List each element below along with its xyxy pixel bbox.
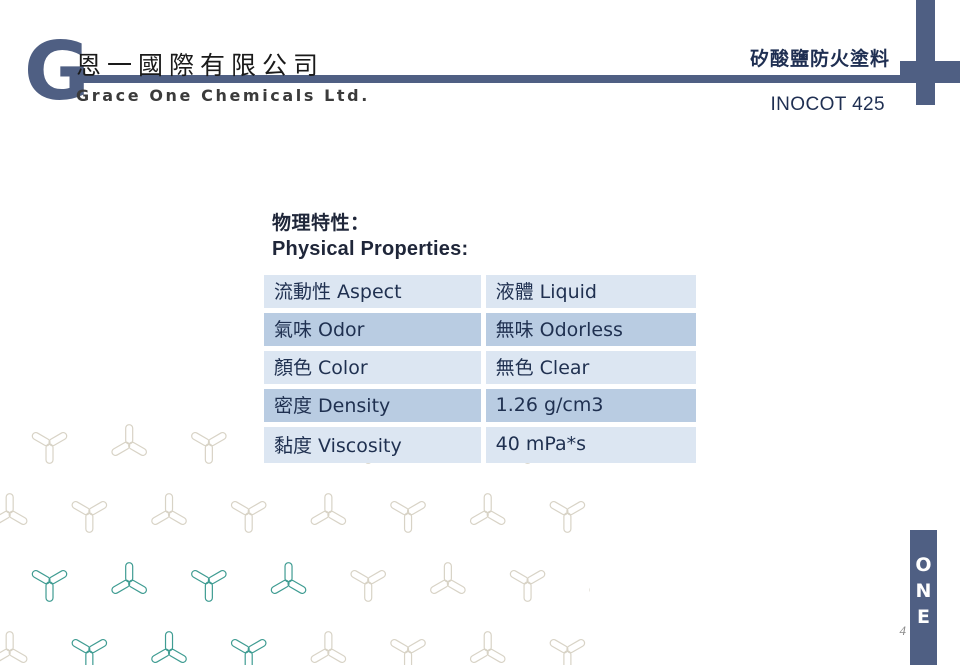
company-name-chinese: 恩一國際有限公司 (76, 46, 324, 82)
table-row: 密度 Density1.26 g/cm3 (264, 389, 696, 427)
corner-cross-horizontal-bar (900, 61, 960, 77)
section-heading-english: Physical Properties: (272, 236, 468, 262)
product-code: INOCOT 425 (770, 94, 885, 116)
one-letter: O (910, 552, 937, 578)
property-name-cell: 流動性 Aspect (264, 275, 486, 313)
section-heading-chinese: 物理特性： (272, 211, 468, 236)
table-row: 氣味 Odor無味 Odorless (264, 313, 696, 351)
slide-canvas: G 恩一國際有限公司 Grace One Chemicals Ltd. 矽酸鹽防… (0, 0, 960, 665)
one-brand-letters: ONE (910, 530, 937, 630)
one-letter: N (910, 578, 937, 604)
property-value-cell: 無色 Clear (486, 351, 696, 389)
property-value-cell: 40 mPa*s (486, 427, 696, 463)
page-number: 4 (890, 623, 906, 639)
property-name-cell: 密度 Density (264, 389, 486, 427)
company-logo: G 恩一國際有限公司 Grace One Chemicals Ltd. (24, 38, 354, 113)
one-brand-bar: ONE (910, 530, 937, 665)
property-name-cell: 氣味 Odor (264, 313, 486, 351)
property-name-cell: 顏色 Color (264, 351, 486, 389)
property-value-cell: 1.26 g/cm3 (486, 389, 696, 427)
one-letter: E (910, 604, 937, 630)
physical-properties-table: 流動性 Aspect液體 Liquid氣味 Odor無味 Odorless顏色 … (264, 275, 696, 463)
physical-properties-table-body: 流動性 Aspect液體 Liquid氣味 Odor無味 Odorless顏色 … (264, 275, 696, 463)
product-title-chinese: 矽酸鹽防火塗料 (750, 44, 890, 71)
table-row: 黏度 Viscosity40 mPa*s (264, 427, 696, 463)
property-value-cell: 液體 Liquid (486, 275, 696, 313)
corner-cross-vertical-bar (916, 0, 935, 105)
property-name-cell: 黏度 Viscosity (264, 427, 486, 463)
table-row: 流動性 Aspect液體 Liquid (264, 275, 696, 313)
section-heading: 物理特性： Physical Properties: (272, 211, 468, 262)
table-row: 顏色 Color無色 Clear (264, 351, 696, 389)
company-name-english: Grace One Chemicals Ltd. (76, 86, 370, 105)
property-value-cell: 無味 Odorless (486, 313, 696, 351)
